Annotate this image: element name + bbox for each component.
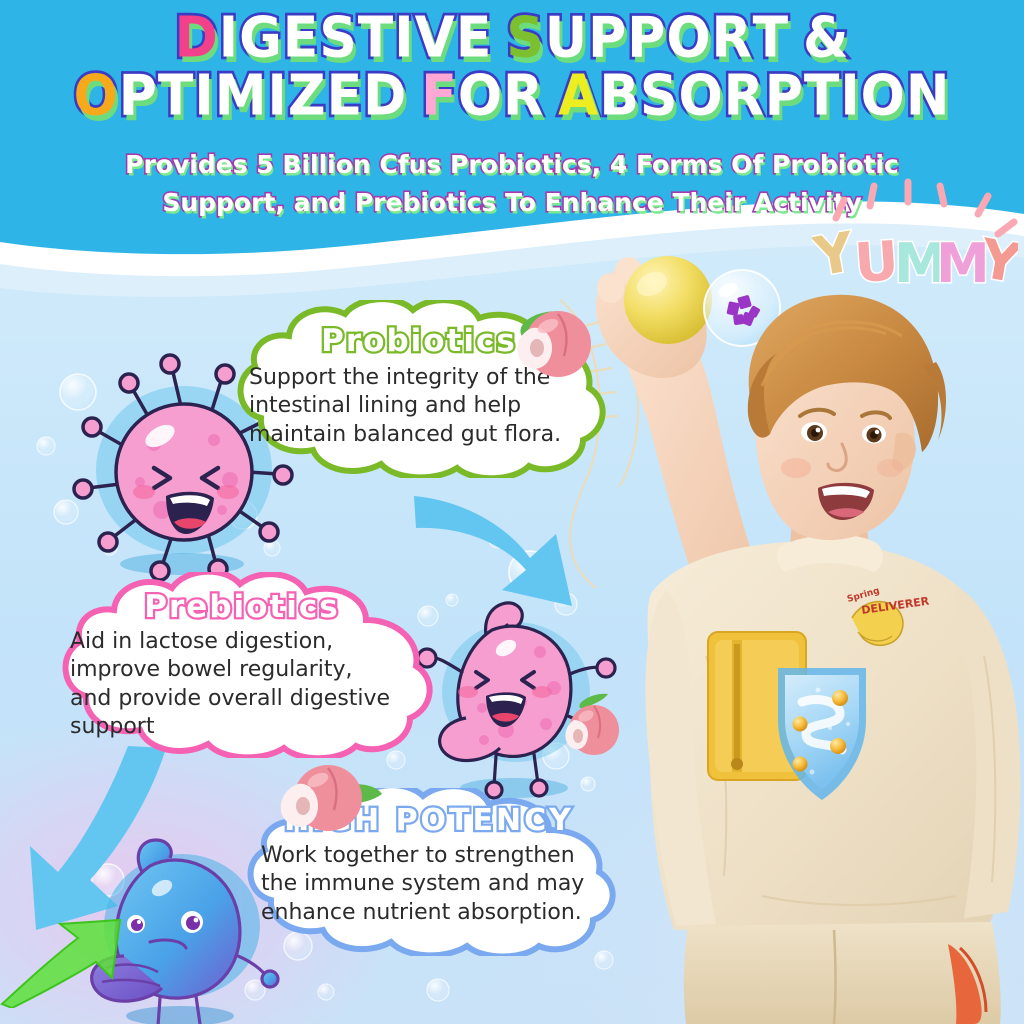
title-letter: U bbox=[545, 10, 588, 66]
title-letter: O bbox=[678, 68, 723, 124]
pink-stomach-character bbox=[418, 600, 628, 800]
title-letter: I bbox=[268, 68, 288, 124]
title-letter: D bbox=[175, 10, 219, 66]
svg-text:Y: Y bbox=[812, 220, 860, 289]
peach-fruit-1 bbox=[492, 300, 610, 386]
card-prebiotics: Prebiotics Aid in lactose digestion, imp… bbox=[42, 572, 438, 758]
title-letter: I bbox=[840, 68, 860, 124]
absorb-arrow-green bbox=[0, 918, 130, 1008]
title-letter: O bbox=[458, 68, 503, 124]
title-letter: T bbox=[358, 10, 394, 66]
title-letter: T bbox=[753, 10, 789, 66]
title-letter: S bbox=[319, 10, 357, 66]
title-letter: S bbox=[640, 68, 678, 124]
title-letter: R bbox=[724, 68, 765, 124]
title-letter: D bbox=[363, 68, 407, 124]
title-letter: I bbox=[219, 10, 239, 66]
title-letter bbox=[789, 10, 803, 66]
title-letter: N bbox=[906, 68, 951, 124]
peach-fruit-2 bbox=[256, 762, 384, 850]
title-letter: P bbox=[119, 68, 158, 124]
title-letter: P bbox=[765, 68, 804, 124]
title-letter: P bbox=[627, 10, 666, 66]
title-letter: T bbox=[158, 68, 194, 124]
title-letter bbox=[544, 68, 558, 124]
title-letter: V bbox=[415, 10, 456, 66]
title-letter: S bbox=[506, 10, 544, 66]
title-letter: P bbox=[588, 10, 627, 66]
title-letter: M bbox=[215, 68, 268, 124]
yummy-badge: Y U M M Y bbox=[812, 178, 1018, 290]
title-letter: R bbox=[503, 68, 544, 124]
title-letter: E bbox=[283, 10, 320, 66]
title-letter: O bbox=[74, 68, 119, 124]
title-letter: I bbox=[394, 10, 414, 66]
card-title-prebiotics: Prebiotics bbox=[64, 592, 420, 623]
title-line-2: OPTIMIZED FOR ABSORPTION bbox=[0, 70, 1024, 122]
yummy-letters: Y U M M Y bbox=[812, 220, 1018, 290]
title-letter: & bbox=[803, 10, 849, 66]
title-letter: G bbox=[239, 10, 283, 66]
card-body-high-potency: Work together to strengthen the immune s… bbox=[253, 842, 605, 927]
header-banner: DIGESTIVE SUPPORT & OPTIMIZED FOR ABSORP… bbox=[0, 0, 1024, 300]
card-body-prebiotics: Aid in lactose digestion, improve bowel … bbox=[64, 628, 420, 742]
title-letter: E bbox=[327, 68, 364, 124]
infographic-root: Spring DELIVERER bbox=[0, 0, 1024, 1024]
title-letter bbox=[407, 68, 421, 124]
title-letter: A bbox=[558, 68, 599, 124]
title-letter: Z bbox=[288, 68, 327, 124]
title-letter: F bbox=[421, 68, 458, 124]
title-letter: E bbox=[456, 10, 493, 66]
title-line-1: DIGESTIVE SUPPORT & bbox=[0, 12, 1024, 64]
title-letter: O bbox=[861, 68, 906, 124]
title-letter: T bbox=[804, 68, 840, 124]
header-title: DIGESTIVE SUPPORT & OPTIMIZED FOR ABSORP… bbox=[0, 12, 1024, 122]
title-letter: R bbox=[712, 10, 753, 66]
title-letter bbox=[492, 10, 506, 66]
title-letter: O bbox=[666, 10, 711, 66]
title-letter: I bbox=[194, 68, 214, 124]
title-letter: B bbox=[599, 68, 640, 124]
